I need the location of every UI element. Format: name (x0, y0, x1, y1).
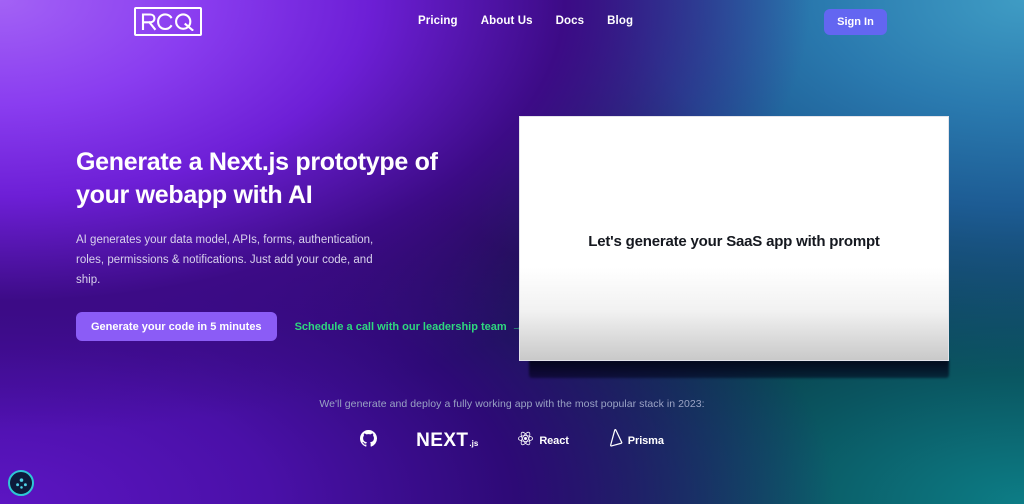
tech-stack-caption: We'll generate and deploy a fully workin… (0, 398, 1024, 410)
accessibility-wheel-icon[interactable] (8, 470, 34, 496)
hero-content: Generate a Next.js prototype of your web… (76, 146, 496, 341)
tech-stack-logos: NEXT .js React Prisma (0, 429, 1024, 452)
nav-item-blog[interactable]: Blog (607, 15, 633, 27)
prisma-triangle-icon (608, 429, 623, 452)
preview-card-shadow (529, 360, 949, 378)
nav-item-pricing[interactable]: Pricing (418, 15, 458, 27)
preview-card: Let's generate your SaaS app with prompt (519, 116, 949, 361)
nav-item-about-us[interactable]: About Us (481, 15, 533, 27)
main-navigation: Pricing About Us Docs Blog (418, 15, 633, 27)
github-icon (360, 430, 377, 452)
hero-headline: Generate a Next.js prototype of your web… (76, 146, 476, 212)
react-label: React (539, 435, 568, 447)
stack-logo-prisma: Prisma (608, 429, 664, 452)
rcq-logo-icon[interactable] (134, 7, 202, 36)
schedule-call-label: Schedule a call with our leadership team (295, 321, 507, 333)
sign-in-button[interactable]: Sign In (824, 9, 887, 35)
site-header: Pricing About Us Docs Blog Sign In (0, 0, 1024, 44)
react-atom-icon (517, 430, 534, 452)
nextjs-sublabel: .js (469, 439, 478, 448)
preview-card-title: Let's generate your SaaS app with prompt (588, 233, 879, 250)
hero-cta-row: Generate your code in 5 minutes Schedule… (76, 312, 496, 341)
generate-code-button[interactable]: Generate your code in 5 minutes (76, 312, 277, 341)
nextjs-wordmark-icon: NEXT .js (416, 430, 478, 452)
prisma-label: Prisma (628, 435, 664, 447)
tech-stack-section: We'll generate and deploy a fully workin… (0, 398, 1024, 452)
schedule-call-link[interactable]: Schedule a call with our leadership team… (295, 321, 523, 333)
stack-logo-react: React (517, 430, 568, 452)
hero-subtext: AI generates your data model, APIs, form… (76, 231, 388, 290)
nextjs-label: NEXT (416, 430, 468, 452)
nav-item-docs[interactable]: Docs (556, 15, 585, 27)
stack-logo-github (360, 430, 377, 452)
stack-logo-nextjs: NEXT .js (416, 430, 478, 452)
